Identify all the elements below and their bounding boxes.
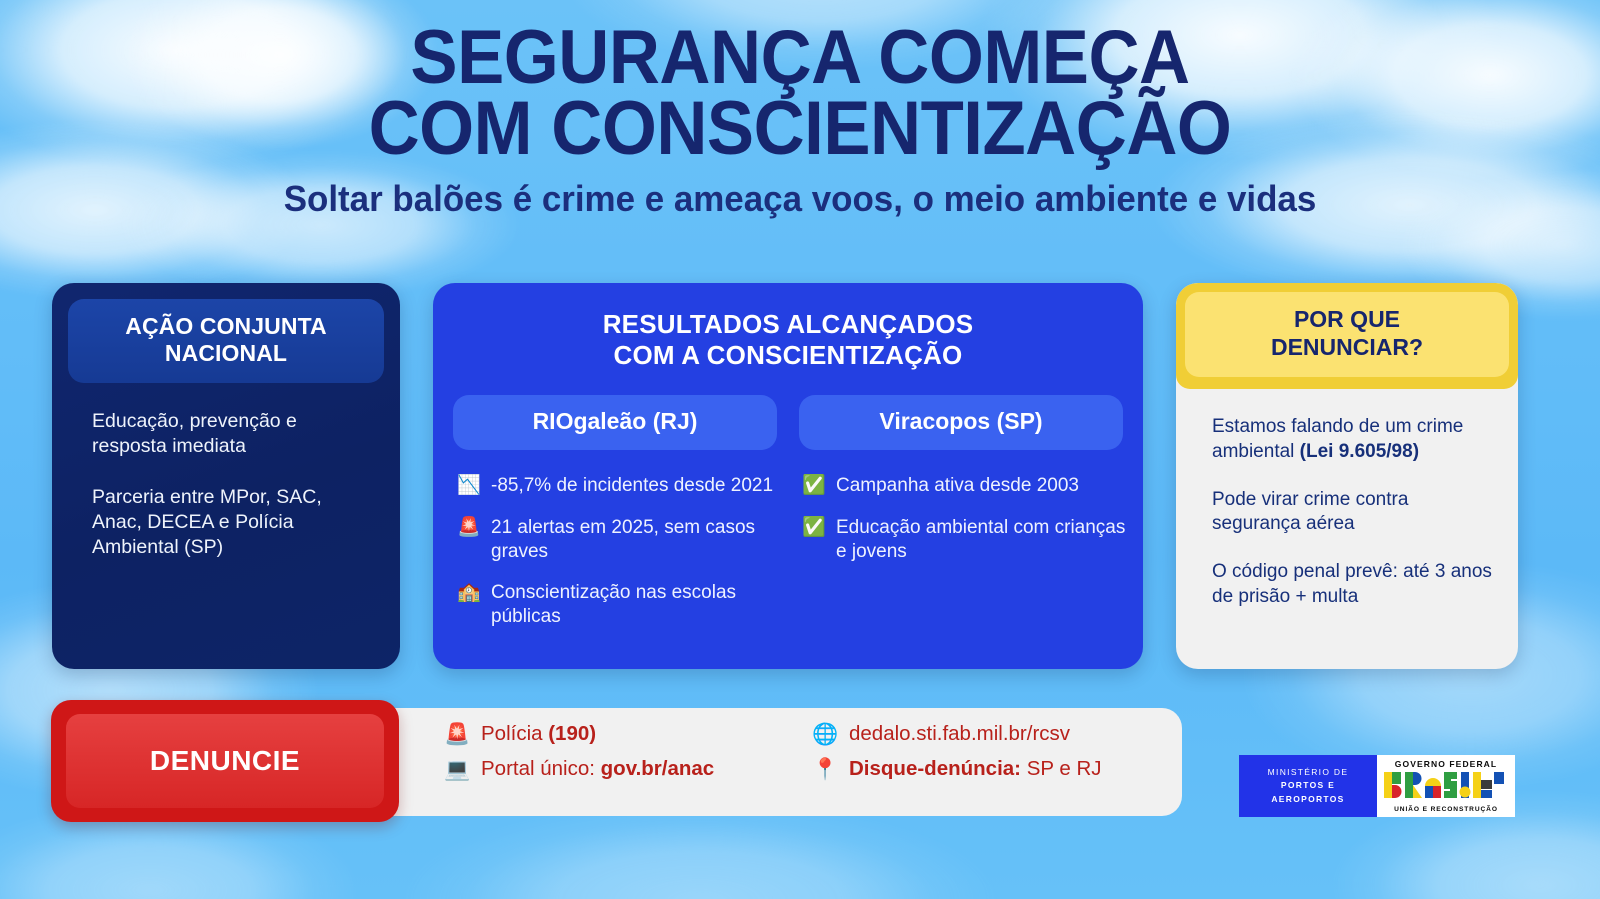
- school-icon: 🏫: [457, 581, 481, 605]
- bottom-action-bar: DENUNCIE 🚨 Polícia (190) 🌐 dedalo.sti.fa…: [52, 708, 1182, 818]
- contact-text: Polícia (190): [481, 722, 596, 747]
- list-item: ✅ Educação ambiental com crianças e jove…: [802, 516, 1127, 563]
- card-right-paragraph: O código penal prevê: até 3 anos de pris…: [1212, 560, 1496, 609]
- list-item-label: -85,7% de incidentes desde 2021: [491, 474, 773, 498]
- card-right-law-reference: (Lei 9.605/98): [1300, 441, 1419, 462]
- contact-text: Portal único: gov.br/anac: [481, 757, 714, 782]
- contact-label: Polícia: [481, 722, 548, 745]
- card-right-header-band: POR QUE DENUNCIAR?: [1176, 283, 1518, 389]
- title-line-2: COM CONSCIENTIZAÇÃO: [369, 86, 1232, 171]
- poster-header: SEGURANÇA COMEÇA COM CONSCIENTIZAÇÃO Sol…: [0, 22, 1600, 218]
- government-footer: UNIÃO E RECONSTRUÇÃO: [1394, 806, 1498, 813]
- card-left-header-line-2: NACIONAL: [165, 340, 287, 366]
- airport-pill-riogaleao[interactable]: RIOgaleão (RJ): [453, 395, 777, 450]
- page-title: SEGURANÇA COMEÇA COM CONSCIENTIZAÇÃO: [56, 22, 1544, 165]
- list-item-label: Educação ambiental com crianças e jovens: [836, 516, 1127, 563]
- logo-governo-federal: GOVERNO FEDERAL: [1377, 755, 1515, 817]
- infographic-poster: SEGURANÇA COMEÇA COM CONSCIENTIZAÇÃO Sol…: [0, 0, 1600, 899]
- page-subtitle: Soltar balões é crime e ameaça voos, o m…: [24, 179, 1576, 219]
- logo-ministerio-portos-aeroportos: MINISTÉRIO DE PORTOS E AEROPORTOS: [1239, 755, 1377, 817]
- ministry-line-3: AEROPORTOS: [1271, 793, 1344, 806]
- contacts-grid: 🚨 Polícia (190) 🌐 dedalo.sti.fab.mil.br/…: [444, 722, 1164, 782]
- list-item: 🚨 21 alertas em 2025, sem casos graves: [457, 516, 782, 563]
- card-acao-conjunta: AÇÃO CONJUNTA NACIONAL Educação, prevenç…: [52, 283, 400, 669]
- card-left-header-line-1: AÇÃO CONJUNTA: [125, 313, 326, 339]
- card-right-header: POR QUE DENUNCIAR?: [1185, 292, 1509, 377]
- card-por-que-denunciar: POR QUE DENUNCIAR? Estamos falando de um…: [1176, 283, 1518, 669]
- card-right-header-line-2: DENUNCIAR?: [1271, 334, 1423, 360]
- results-column-riogaleao: 📉 -85,7% de incidentes desde 2021 🚨 21 a…: [443, 474, 788, 646]
- ministry-line-2: PORTOS E: [1281, 779, 1335, 792]
- contact-disque-denuncia[interactable]: 📍 Disque-denúncia: SP e RJ: [812, 757, 1164, 782]
- results-columns: 📉 -85,7% de incidentes desde 2021 🚨 21 a…: [433, 450, 1143, 646]
- denuncie-button-label: DENUNCIE: [66, 714, 384, 808]
- airport-pills: RIOgaleão (RJ) Viracopos (SP): [433, 371, 1143, 450]
- contact-label: Disque-denúncia:: [849, 757, 1027, 780]
- logo-row: MINISTÉRIO DE PORTOS E AEROPORTOS GOVERN…: [1239, 755, 1515, 817]
- check-circle-icon: ✅: [802, 516, 826, 540]
- card-right-body: Estamos falando de um crime ambiental (L…: [1176, 389, 1518, 609]
- list-item-label: Conscientização nas escolas públicas: [491, 581, 782, 628]
- card-center-header-line-1: RESULTADOS ALCANÇADOS: [603, 309, 974, 339]
- contact-value: (190): [548, 722, 596, 745]
- cards-row: AÇÃO CONJUNTA NACIONAL Educação, prevenç…: [52, 283, 1518, 669]
- contact-label: Portal único:: [481, 757, 601, 780]
- card-resultados: RESULTADOS ALCANÇADOS COM A CONSCIENTIZA…: [433, 283, 1143, 669]
- contact-value: dedalo.sti.fab.mil.br/rcsv: [849, 722, 1070, 745]
- siren-icon: 🚨: [457, 516, 481, 540]
- contact-policia[interactable]: 🚨 Polícia (190): [444, 722, 796, 747]
- brasil-wordmark-icon: [1384, 772, 1508, 803]
- airport-pill-viracopos[interactable]: Viracopos (SP): [799, 395, 1123, 450]
- list-item-label: Campanha ativa desde 2003: [836, 474, 1079, 498]
- card-center-header-line-2: COM A CONSCIENTIZAÇÃO: [614, 340, 963, 370]
- contact-value: gov.br/anac: [601, 757, 715, 780]
- card-center-header: RESULTADOS ALCANÇADOS COM A CONSCIENTIZA…: [433, 283, 1143, 371]
- card-right-header-line-1: POR QUE: [1294, 306, 1400, 332]
- card-right-paragraph: Pode virar crime contra segurança aérea: [1212, 488, 1496, 537]
- list-item: 📉 -85,7% de incidentes desde 2021: [457, 474, 782, 498]
- list-item: ✅ Campanha ativa desde 2003: [802, 474, 1127, 498]
- list-item: 🏫 Conscientização nas escolas públicas: [457, 581, 782, 628]
- globe-icon: 🌐: [812, 722, 838, 747]
- chart-decreasing-icon: 📉: [457, 474, 481, 498]
- siren-icon: 🚨: [444, 722, 470, 747]
- list-item-label: 21 alertas em 2025, sem casos graves: [491, 516, 782, 563]
- ministry-line-1: MINISTÉRIO DE: [1268, 766, 1349, 779]
- contact-portal-unico[interactable]: 💻 Portal único: gov.br/anac: [444, 757, 796, 782]
- government-caption: GOVERNO FEDERAL: [1395, 759, 1497, 769]
- card-left-paragraph: Parceria entre MPor, SAC, Anac, DECEA e …: [92, 485, 374, 560]
- contact-text: dedalo.sti.fab.mil.br/rcsv: [849, 722, 1070, 747]
- card-left-paragraph: Educação, prevenção e resposta imediata: [92, 409, 374, 459]
- contact-text: Disque-denúncia: SP e RJ: [849, 757, 1102, 782]
- check-circle-icon: ✅: [802, 474, 826, 498]
- card-left-header: AÇÃO CONJUNTA NACIONAL: [68, 299, 384, 383]
- location-pin-icon: 📍: [812, 757, 838, 782]
- card-right-paragraph: Estamos falando de um crime ambiental (L…: [1212, 415, 1496, 464]
- card-left-body: Educação, prevenção e resposta imediata …: [52, 383, 400, 560]
- contact-dedalo-site[interactable]: 🌐 dedalo.sti.fab.mil.br/rcsv: [812, 722, 1164, 747]
- results-column-viracopos: ✅ Campanha ativa desde 2003 ✅ Educação a…: [788, 474, 1133, 646]
- denuncie-button[interactable]: DENUNCIE: [51, 700, 399, 822]
- laptop-icon: 💻: [444, 757, 470, 782]
- contact-value: SP e RJ: [1027, 757, 1102, 780]
